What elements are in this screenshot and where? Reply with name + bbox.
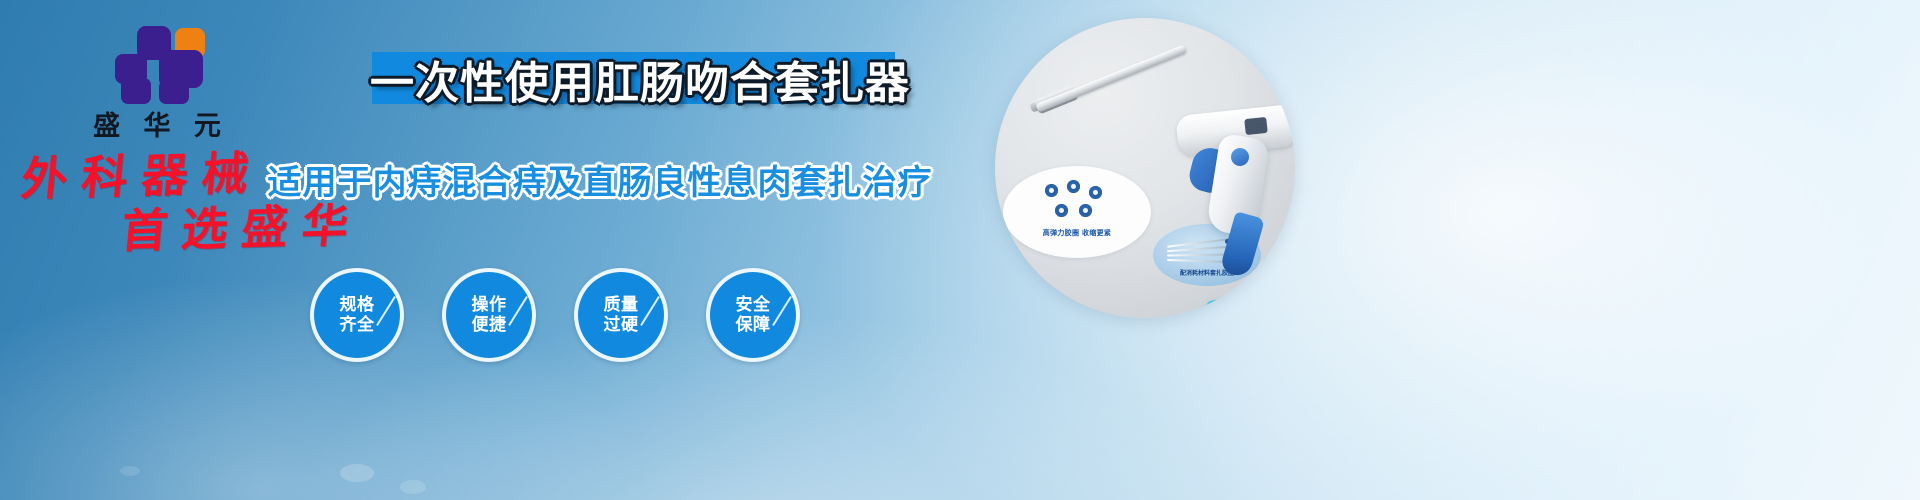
feature-badge-line-1: 质量	[604, 295, 639, 315]
logo-blocks-icon	[111, 26, 203, 100]
feature-badge-line-2: 便捷	[472, 315, 507, 335]
feature-badge-line-2: 齐全	[340, 315, 375, 335]
feature-badge-quality[interactable]: 质量 过硬	[574, 268, 668, 362]
feature-badge-line-2: 过硬	[604, 315, 639, 335]
brand-name: 盛 华 元	[62, 104, 252, 143]
ligator-device-illustration	[995, 18, 1295, 318]
feature-badge-list: 规格 齐全 操作 便捷 质量 过硬 安全 保障	[310, 268, 870, 368]
feature-badge-operation[interactable]: 操作 便捷	[442, 268, 536, 362]
feature-badge-safety[interactable]: 安全 保障	[706, 268, 800, 362]
decorative-particle	[120, 466, 140, 476]
promo-banner: 盛 华 元 外科器械 首选盛华 一次性使用肛肠吻合套扎器 适用于内痔混合痔及直肠…	[0, 0, 1920, 500]
page-subtitle: 适用于内痔混合痔及直肠良性息肉套扎治疗	[290, 155, 910, 203]
calligraphy-line-1: 外科器械	[18, 137, 265, 209]
feature-badge-line-2: 保障	[736, 315, 771, 335]
decorative-particle	[340, 464, 374, 482]
decorative-particle	[400, 480, 426, 494]
feature-badge-specifications[interactable]: 规格 齐全	[310, 268, 404, 362]
product-photo: 高弹力胶圈 收缩更紧 配消耗材料套扎胶圈	[995, 18, 1295, 318]
page-title: 一次性使用肛肠吻合套扎器	[330, 51, 950, 107]
brand-logo[interactable]: 盛 华 元	[62, 26, 252, 143]
feature-badge-line-1: 安全	[736, 295, 771, 315]
feature-badge-line-1: 操作	[472, 295, 507, 315]
feature-badge-line-1: 规格	[340, 295, 375, 315]
